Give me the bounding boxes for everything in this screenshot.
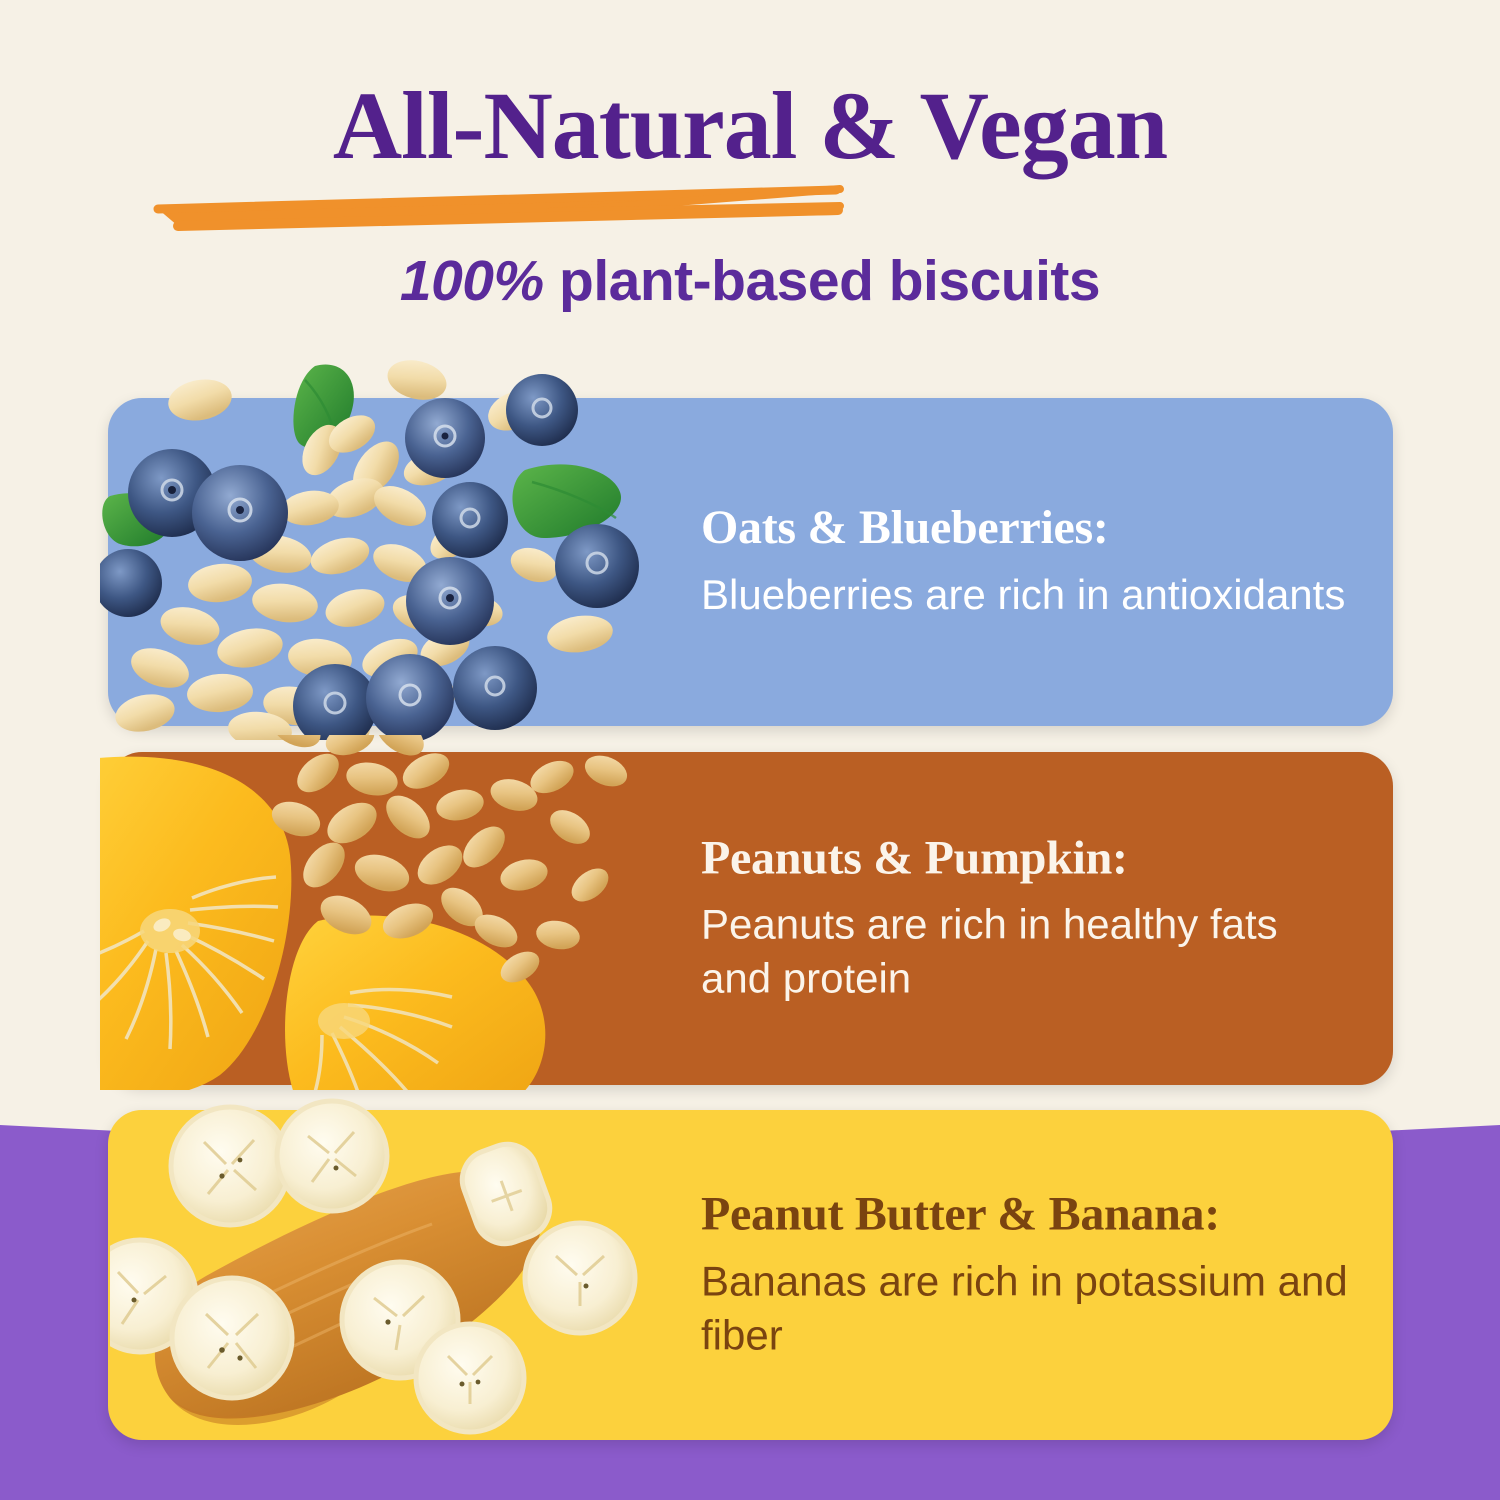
benefit-card-peanut-butter-banana[interactable]: Peanut Butter & Banana: Bananas are rich… (108, 1110, 1393, 1440)
card-text-block: Oats & Blueberries: Blueberries are rich… (701, 502, 1351, 622)
card-text-block: Peanuts & Pumpkin: Peanuts are rich in h… (701, 832, 1351, 1005)
card-body: Blueberries are rich in antioxidants (701, 568, 1351, 622)
card-title: Oats & Blueberries: (701, 502, 1351, 554)
benefit-card-oats-blueberries[interactable]: Oats & Blueberries: Blueberries are rich… (108, 398, 1393, 726)
product-infographic: All-Natural & Vegan 100% plant-based bis… (0, 0, 1500, 1500)
headline-container: All-Natural & Vegan (0, 78, 1500, 174)
card-text-block: Peanut Butter & Banana: Bananas are rich… (701, 1188, 1351, 1361)
benefit-card-peanuts-pumpkin[interactable]: Peanuts & Pumpkin: Peanuts are rich in h… (108, 752, 1393, 1085)
orange-swoosh-underline-icon (150, 176, 890, 236)
subtitle-rest: plant-based biscuits (544, 249, 1100, 313)
card-body: Peanuts are rich in healthy fats and pro… (701, 898, 1351, 1006)
subtitle-percent: 100% (400, 249, 544, 313)
card-body: Bananas are rich in potassium and fiber (701, 1254, 1351, 1362)
card-title: Peanut Butter & Banana: (701, 1188, 1351, 1240)
card-title: Peanuts & Pumpkin: (701, 832, 1351, 884)
page-title: All-Natural & Vegan (0, 78, 1500, 174)
page-subtitle: 100% plant-based biscuits (0, 248, 1500, 314)
